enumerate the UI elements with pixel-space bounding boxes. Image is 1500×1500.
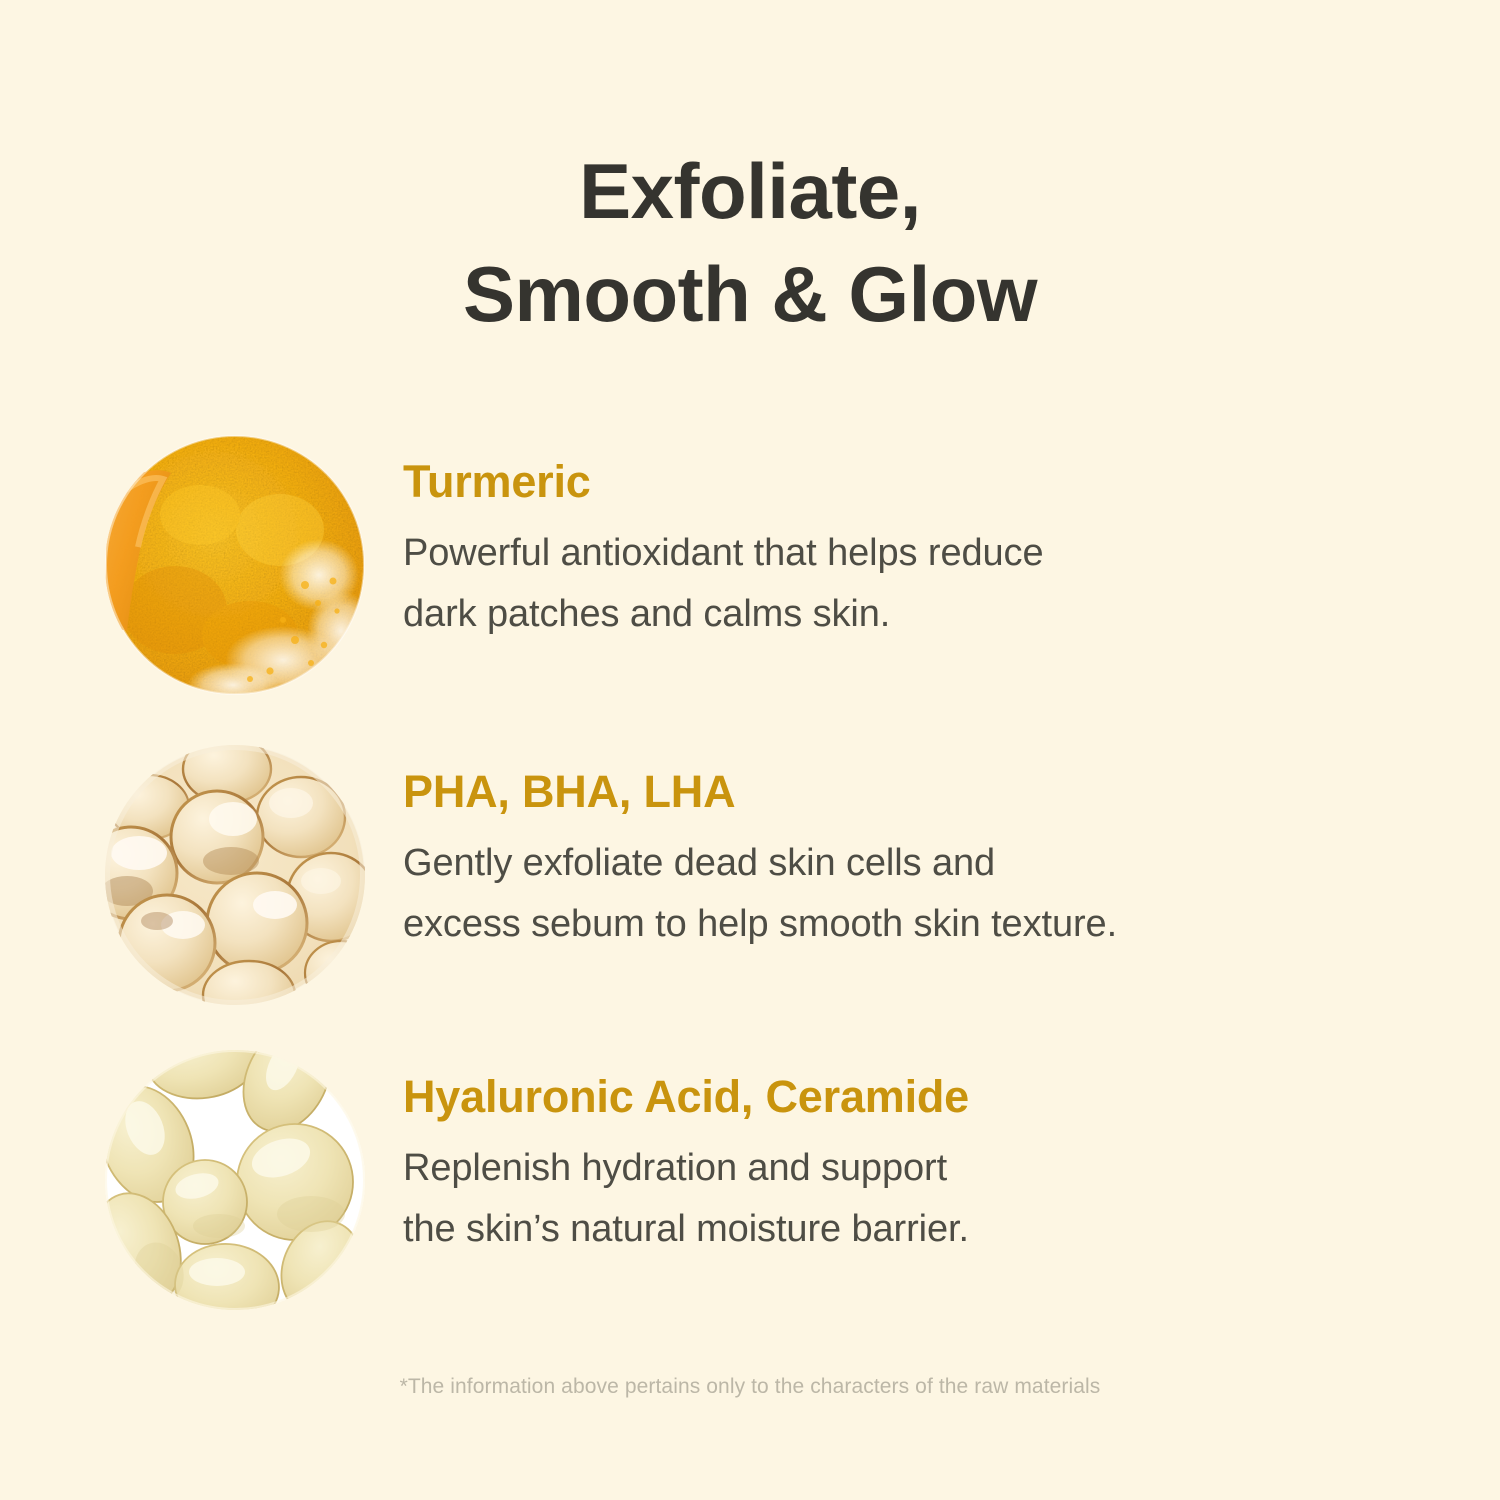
- ingredient-row-acids: PHA, BHA, LHA Gently exfoliate dead skin…: [0, 740, 1500, 1010]
- ingredient-description: Replenish hydration and support the skin…: [403, 1138, 1303, 1261]
- page-title-line-1: Exfoliate,: [0, 140, 1500, 243]
- page-title-line-2: Smooth & Glow: [0, 243, 1500, 346]
- ingredient-description-line-1: Replenish hydration and support: [403, 1138, 1303, 1200]
- ingredient-description-line-2: the skin’s natural moisture barrier.: [403, 1199, 1303, 1261]
- ingredient-row-turmeric: Turmeric Powerful antioxidant that helps…: [0, 430, 1500, 700]
- ingredient-copy: PHA, BHA, LHA Gently exfoliate dead skin…: [403, 768, 1303, 956]
- ingredient-description-line-1: Gently exfoliate dead skin cells and: [403, 833, 1303, 895]
- disclaimer-footnote: *The information above pertains only to …: [0, 1375, 1500, 1399]
- ingredient-description-line-2: excess sebum to help smooth skin texture…: [403, 894, 1303, 956]
- turmeric-powder-photo: [105, 435, 365, 695]
- ingredient-description-line-2: dark patches and calms skin.: [403, 584, 1303, 646]
- ingredient-title: PHA, BHA, LHA: [403, 768, 1303, 817]
- ingredient-copy: Hyaluronic Acid, Ceramide Replenish hydr…: [403, 1073, 1303, 1261]
- ingredient-description: Gently exfoliate dead skin cells and exc…: [403, 833, 1303, 956]
- amber-capsule-photo: [105, 745, 365, 1005]
- product-ingredient-infographic: Exfoliate, Smooth & Glow: [0, 0, 1500, 1500]
- ingredient-title: Hyaluronic Acid, Ceramide: [403, 1073, 1303, 1122]
- cream-softgel-photo: [105, 1050, 365, 1310]
- ingredient-copy: Turmeric Powerful antioxidant that helps…: [403, 458, 1303, 646]
- ingredient-description: Powerful antioxidant that helps reduce d…: [403, 523, 1303, 646]
- ingredient-row-hydrators: Hyaluronic Acid, Ceramide Replenish hydr…: [0, 1045, 1500, 1315]
- ingredient-title: Turmeric: [403, 458, 1303, 507]
- page-title: Exfoliate, Smooth & Glow: [0, 140, 1500, 346]
- ingredient-description-line-1: Powerful antioxidant that helps reduce: [403, 523, 1303, 585]
